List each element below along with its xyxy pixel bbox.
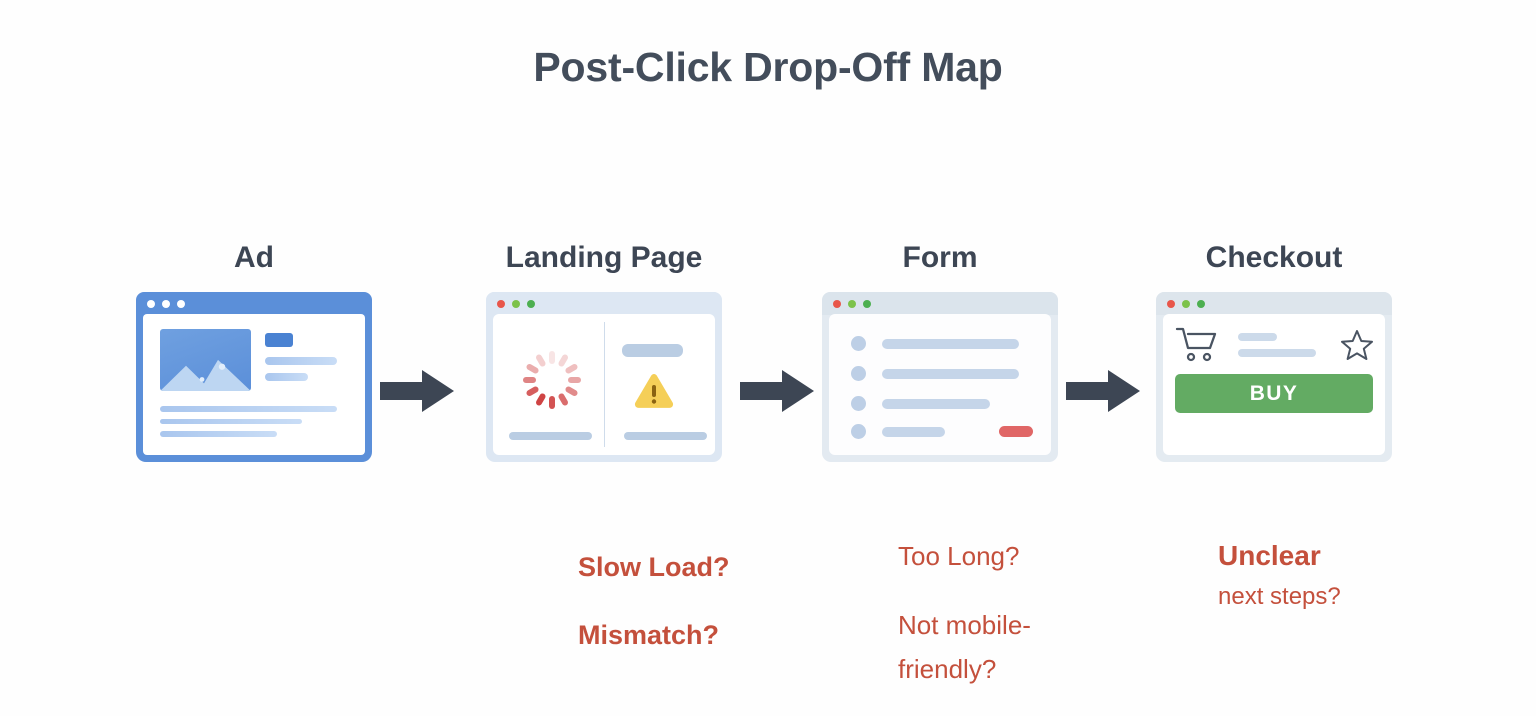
- form-bullet-icon: [851, 424, 866, 439]
- stage-label-landing-page: Landing Page: [454, 238, 754, 278]
- form-field-4[interactable]: [882, 427, 945, 437]
- annotation-checkout: Unclear next steps?: [1218, 536, 1341, 618]
- form-row[interactable]: [829, 366, 1051, 381]
- window-dot-2-icon: [162, 300, 170, 308]
- annotation-form-line-1: Too Long?: [898, 534, 1031, 578]
- stage-label-form: Form: [790, 238, 1090, 278]
- form-titlebar: [822, 292, 1058, 315]
- arrow-ad-to-landing-page: [380, 366, 454, 416]
- stage-label-ad: Ad: [104, 238, 404, 278]
- funnel-flow: Ad: [0, 238, 1536, 508]
- checkout-screen: BUY: [1163, 314, 1385, 455]
- form-bullet-icon: [851, 336, 866, 351]
- ad-body-line-2: [160, 419, 302, 424]
- window-dot-2-icon: [512, 300, 520, 308]
- image-placeholder-icon: [160, 329, 251, 391]
- buy-button[interactable]: BUY: [1175, 374, 1373, 413]
- window-dot-3-icon: [1197, 300, 1205, 308]
- shopping-cart-icon: [1175, 326, 1223, 364]
- window-dot-3-icon: [527, 300, 535, 308]
- ad-body-line-1: [160, 406, 337, 412]
- form-field-1[interactable]: [882, 339, 1019, 349]
- landing-titlebar: [486, 292, 722, 315]
- window-dot-1-icon: [497, 300, 505, 308]
- checkout-browser-card[interactable]: BUY: [1156, 292, 1392, 462]
- loading-spinner-icon: [523, 351, 581, 409]
- ad-screen: [143, 314, 365, 455]
- checkout-text-bar-1: [1238, 333, 1277, 341]
- annotation-form: Too Long? Not mobile- friendly?: [898, 534, 1031, 691]
- checkout-titlebar: [1156, 292, 1392, 315]
- window-dot-3-icon: [863, 300, 871, 308]
- window-dot-1-icon: [147, 300, 155, 308]
- stage-form[interactable]: Form: [790, 238, 1090, 462]
- form-field-3[interactable]: [882, 399, 990, 409]
- ad-browser-card[interactable]: [136, 292, 372, 462]
- landing-footer-bar-right: [624, 432, 707, 440]
- window-dot-1-icon: [1167, 300, 1175, 308]
- annotation-checkout-subline: next steps?: [1218, 576, 1341, 618]
- annotation-landing-line-2: Mismatch?: [578, 601, 730, 669]
- annotation-landing-line-1: Slow Load?: [578, 533, 730, 601]
- warning-triangle-icon: [633, 372, 675, 411]
- ad-body-line-3: [160, 431, 277, 437]
- annotation-landing-page: Slow Load? Mismatch?: [578, 533, 730, 669]
- annotation-form-line-2: Not mobile- friendly?: [898, 603, 1031, 691]
- form-submit-button[interactable]: [999, 426, 1033, 437]
- form-bullet-icon: [851, 396, 866, 411]
- form-field-2[interactable]: [882, 369, 1019, 379]
- form-row[interactable]: [829, 396, 1051, 411]
- form-bullet-icon: [851, 366, 866, 381]
- stage-checkout[interactable]: Checkout BUY: [1124, 238, 1424, 462]
- stage-label-checkout: Checkout: [1124, 238, 1424, 278]
- annotation-checkout-headline: Unclear: [1218, 536, 1341, 576]
- ad-text-line-1: [265, 357, 337, 365]
- window-dot-3-icon: [177, 300, 185, 308]
- landing-page-browser-card[interactable]: [486, 292, 722, 462]
- stage-landing-page[interactable]: Landing Page: [454, 238, 754, 462]
- form-row[interactable]: [829, 424, 1051, 439]
- form-screen: [829, 314, 1051, 455]
- landing-screen: [493, 314, 715, 455]
- ad-cta-button[interactable]: [265, 333, 293, 347]
- ad-text-line-2: [265, 373, 308, 381]
- window-dot-2-icon: [1182, 300, 1190, 308]
- window-dot-2-icon: [848, 300, 856, 308]
- checkout-text-bar-2: [1238, 349, 1316, 357]
- ad-titlebar: [136, 292, 372, 315]
- star-outline-icon[interactable]: [1341, 329, 1373, 361]
- form-row[interactable]: [829, 336, 1051, 351]
- landing-footer-bar-left: [509, 432, 592, 440]
- form-browser-card[interactable]: [822, 292, 1058, 462]
- window-dot-1-icon: [833, 300, 841, 308]
- page-title: Post-Click Drop-Off Map: [0, 44, 1536, 91]
- stage-ad[interactable]: Ad: [104, 238, 404, 462]
- panel-divider: [604, 322, 605, 447]
- landing-heading-bar: [622, 344, 683, 357]
- mountain-shape-icon: [160, 354, 251, 391]
